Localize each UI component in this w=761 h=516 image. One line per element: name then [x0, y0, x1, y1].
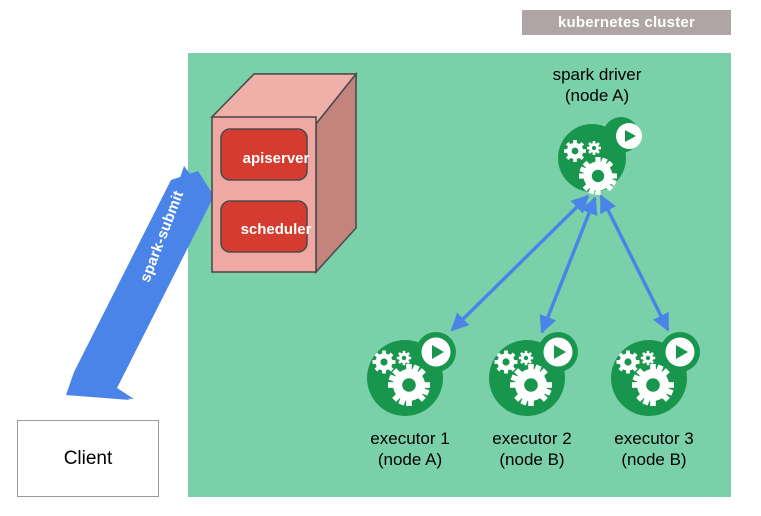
executor-1-label-line1: executor 1	[348, 428, 472, 449]
executor-2-label-line1: executor 2	[470, 428, 594, 449]
executor-1-label-line2: (node A)	[348, 449, 472, 470]
executor-3-label-line2: (node B)	[592, 449, 716, 470]
cube-chip-apiserver-label: apiserver	[220, 150, 332, 167]
spark-submit-arrowhead-lower	[66, 381, 130, 400]
driver-label-line2: (node A)	[527, 85, 667, 106]
node-label-spark-driver: spark driver (node A)	[527, 64, 667, 106]
kubernetes-cluster-banner: kubernetes cluster	[522, 10, 731, 35]
node-label-executor-1: executor 1 (node A)	[348, 428, 472, 470]
executor-2-label-line2: (node B)	[470, 449, 594, 470]
diagram-canvas: kubernetes cluster spark-submit apiserve…	[0, 0, 761, 516]
client-box[interactable]: Client	[17, 420, 159, 497]
node-label-executor-2: executor 2 (node B)	[470, 428, 594, 470]
client-box-label: Client	[64, 448, 113, 470]
kubernetes-cluster-banner-label: kubernetes cluster	[558, 14, 695, 31]
node-label-executor-3: executor 3 (node B)	[592, 428, 716, 470]
executor-3-label-line1: executor 3	[592, 428, 716, 449]
cube-chip-scheduler-label: scheduler	[220, 221, 332, 238]
driver-label-line1: spark driver	[527, 64, 667, 85]
